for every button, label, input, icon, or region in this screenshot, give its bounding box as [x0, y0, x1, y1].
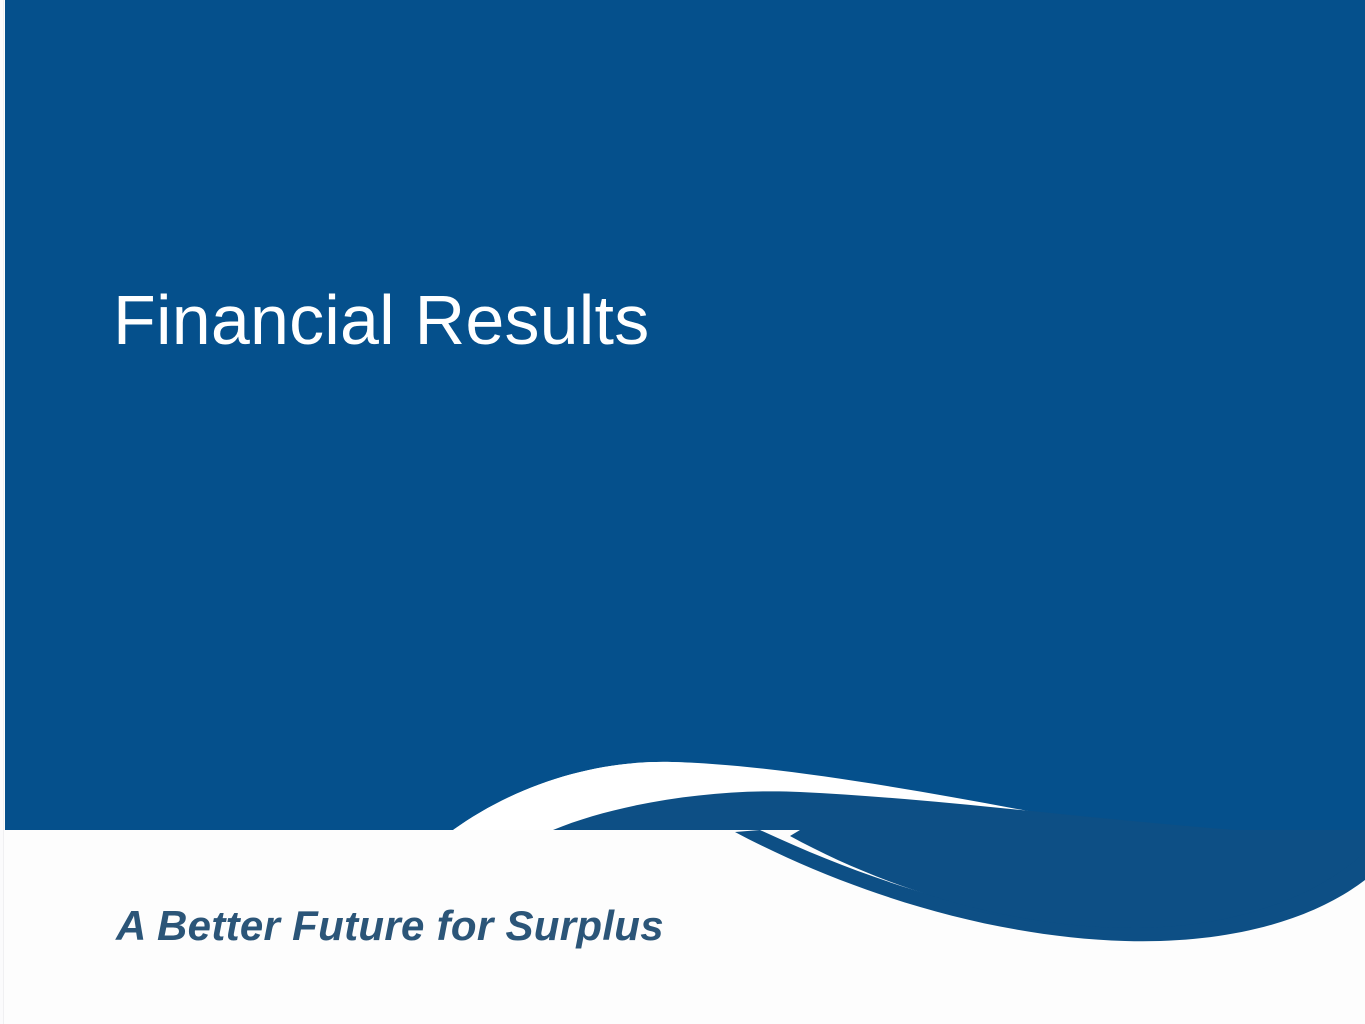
blue-arc-shape [735, 830, 1365, 941]
slide-title: Financial Results [113, 283, 649, 357]
brand-tagline: A Better Future for Surplus [116, 902, 664, 949]
presentation-slide: Financial Results A Better Future for Su… [0, 0, 1365, 1024]
